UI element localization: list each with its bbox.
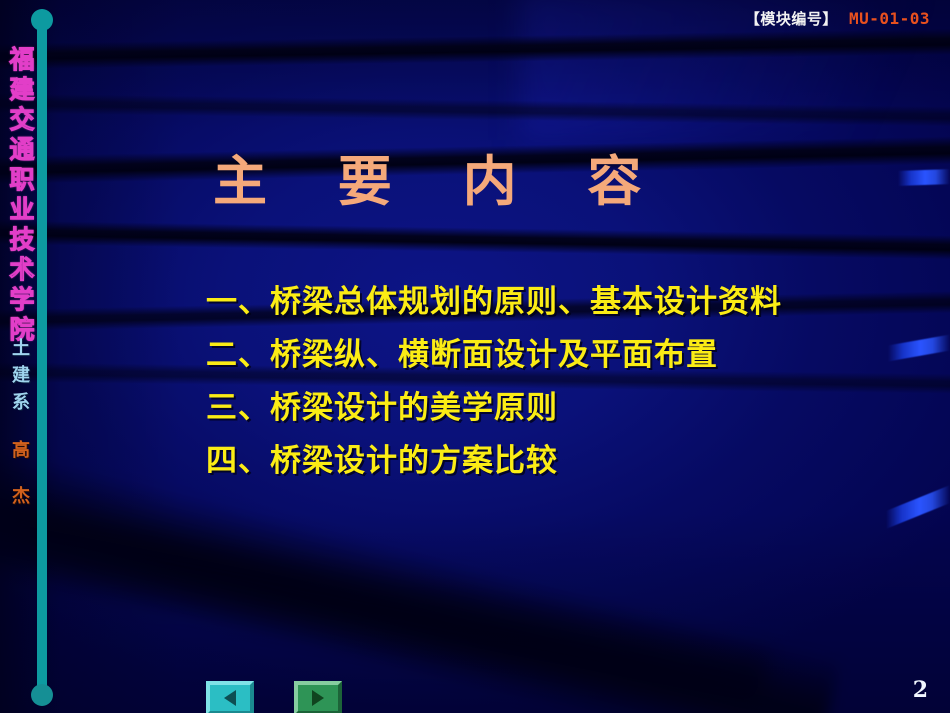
slide-title: 主 要 内 容 bbox=[213, 137, 667, 216]
content-list-item: 三、桥梁设计的美学原则 bbox=[206, 382, 782, 435]
module-code: MU-01-03 bbox=[849, 9, 930, 28]
triangle-left-icon bbox=[224, 690, 236, 706]
author-name-vertical: 高杰 bbox=[6, 440, 32, 532]
triangle-right-icon bbox=[312, 690, 324, 706]
presentation-slide: 福建交通职业技术学院 土建系 高杰 【模块编号】 MU-01-03 主 要 内 … bbox=[0, 0, 950, 713]
content-list-item: 四、桥梁设计的方案比较 bbox=[206, 435, 782, 488]
accent-rule-bottom-cap bbox=[31, 684, 53, 706]
next-slide-button[interactable] bbox=[294, 681, 342, 713]
decorative-streak bbox=[898, 169, 950, 186]
slide-header: 【模块编号】 MU-01-03 bbox=[745, 8, 930, 29]
page-number: 2 bbox=[913, 677, 928, 703]
content-list-item: 一、桥梁总体规划的原则、基本设计资料 bbox=[206, 276, 782, 329]
content-list-item: 二、桥梁纵、横断面设计及平面布置 bbox=[206, 329, 782, 382]
module-label: 【模块编号】 bbox=[745, 8, 838, 29]
content-list: 一、桥梁总体规划的原则、基本设计资料 二、桥梁纵、横断面设计及平面布置 三、桥梁… bbox=[206, 276, 782, 488]
accent-vertical-rule bbox=[37, 22, 47, 694]
department-name-vertical: 土建系 bbox=[6, 338, 32, 419]
slide-navigation bbox=[206, 681, 342, 713]
school-name-vertical: 福建交通职业技术学院 bbox=[2, 46, 38, 346]
previous-slide-button[interactable] bbox=[206, 681, 254, 713]
